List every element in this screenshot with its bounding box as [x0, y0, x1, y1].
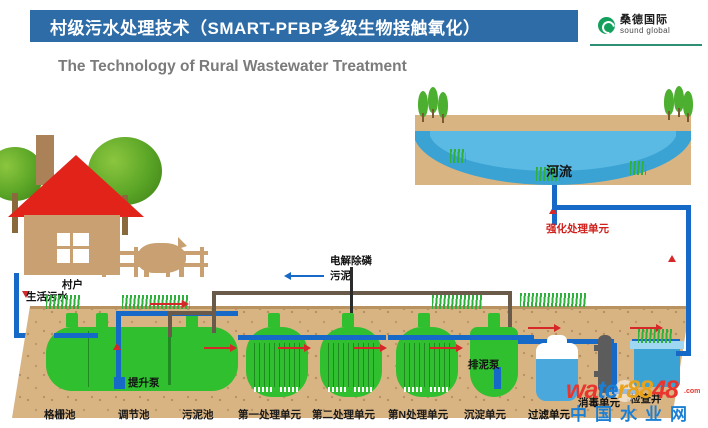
arrow-right-u1	[230, 344, 237, 352]
diffuser-unit-2b	[354, 387, 374, 392]
grit-screen-baffle	[88, 331, 91, 387]
pig-illustration	[138, 243, 186, 273]
grass-tuft-2	[122, 295, 190, 309]
arrow-left-sludge	[284, 272, 291, 280]
riser-equalisation	[96, 313, 108, 327]
watermark-site-name-cn: 中国水业网	[570, 400, 695, 425]
flow-line-u2	[278, 347, 306, 349]
diffuser-unit-2a	[328, 387, 348, 392]
pipe-to-river-top	[552, 205, 691, 210]
diffuser-unit-1b	[280, 387, 300, 392]
label-enhanced-treatment-unit: 强化处理单元	[546, 221, 609, 236]
river-tree-left-3	[438, 92, 448, 118]
diffuser-unit-na	[404, 387, 424, 392]
diffuser-unit-nb	[430, 387, 450, 392]
logo-underline-divider	[590, 44, 702, 46]
arrow-right-to-reactor	[182, 300, 189, 308]
grass-tuft-1	[46, 295, 80, 309]
arrow-right-filter	[554, 324, 561, 332]
bottom-label-sludge-tank: 污泥池	[182, 407, 214, 422]
flow-line-u1	[204, 347, 232, 349]
watermark: water8848 .com 中国水业网	[566, 376, 708, 426]
arrow-up-lift-pump	[113, 343, 121, 350]
page-title-bar: 村级污水处理技术（SMART-PFBP多级生物接触氧化）	[30, 10, 578, 42]
logo-name-en: sound global	[620, 27, 670, 35]
river-tree-left-2	[428, 87, 438, 113]
diffuser-unit-1a	[254, 387, 274, 392]
pipe-well-outlet	[676, 351, 691, 356]
arrow-right-u2	[304, 344, 311, 352]
label-lift-pump: 提升泵	[128, 375, 160, 390]
pipe-into-unit-2	[312, 335, 386, 340]
label-sludge: 污泥	[330, 268, 351, 283]
pipe-house-drop	[14, 273, 19, 337]
pipe-sludge-drop	[168, 311, 172, 337]
riser-unit-1	[268, 313, 280, 327]
bottom-label-settling: 沉淀单元	[464, 407, 506, 422]
riser-settling	[488, 313, 500, 327]
arrow-right-settling	[456, 344, 463, 352]
arrow-up-return-river	[668, 255, 676, 262]
house-window	[54, 230, 92, 266]
pipe-into-unit-1	[238, 335, 312, 340]
flow-line-un	[354, 347, 382, 349]
sound-global-spiral-icon	[598, 17, 615, 34]
label-electrolytic-phosphorus-removal: 电解除磷	[330, 253, 372, 268]
river-tree-right-3	[683, 91, 693, 117]
pipe-inlet-to-tank	[54, 333, 98, 338]
bottom-label-unit-n: 第N处理单元	[388, 407, 448, 422]
page-title: 村级污水处理技术（SMART-PFBP多级生物接触氧化）	[30, 14, 481, 39]
pipe-into-unit-n	[388, 335, 462, 340]
pipe-sludge-to-sludge-tank	[168, 311, 216, 315]
watermark-tld: .com	[684, 388, 700, 395]
river-grass-left	[450, 149, 466, 163]
sludge-flow-line	[290, 275, 324, 277]
sludge-baffle	[168, 335, 171, 385]
filter-vessel-cap	[536, 343, 578, 359]
river-tree-left-1	[418, 91, 428, 117]
river-grass-right	[630, 161, 646, 175]
pipe-well-to-river-riser	[686, 205, 691, 355]
bottom-label-equalisation: 调节池	[118, 407, 150, 422]
bottom-label-unit-2: 第二处理单元	[312, 407, 375, 422]
grass-tuft-3	[432, 295, 482, 309]
label-sludge-discharge-pump: 排泥泵	[468, 357, 500, 372]
riser-unit-n	[418, 313, 430, 327]
river-tree-right-1	[664, 89, 674, 115]
label-filter-unit: 过滤单元	[528, 407, 570, 422]
flow-line-settling	[430, 347, 458, 349]
riser-unit-2	[342, 313, 354, 327]
house-roof	[8, 155, 144, 217]
media-unit-2	[328, 343, 374, 387]
flow-line-filter	[528, 327, 556, 329]
flow-line-to-reactor	[150, 303, 184, 305]
logo-name-cn: 桑德国际	[620, 15, 670, 27]
bottom-label-unit-1: 第一处理单元	[238, 407, 301, 422]
riser-grit	[66, 313, 78, 327]
pipe-sludge-return-header	[212, 291, 512, 295]
label-river: 河流	[546, 161, 572, 180]
media-unit-1	[254, 343, 300, 387]
inspection-well-grass	[638, 329, 672, 343]
arrow-right-un	[380, 344, 387, 352]
page-subtitle: The Technology of Rural Wastewater Treat…	[58, 58, 407, 76]
company-logo: 桑德国际 sound global	[598, 10, 698, 40]
bottom-label-grit-tank: 格栅池	[44, 407, 76, 422]
media-unit-n	[404, 343, 450, 387]
grass-tuft-4	[520, 293, 586, 307]
